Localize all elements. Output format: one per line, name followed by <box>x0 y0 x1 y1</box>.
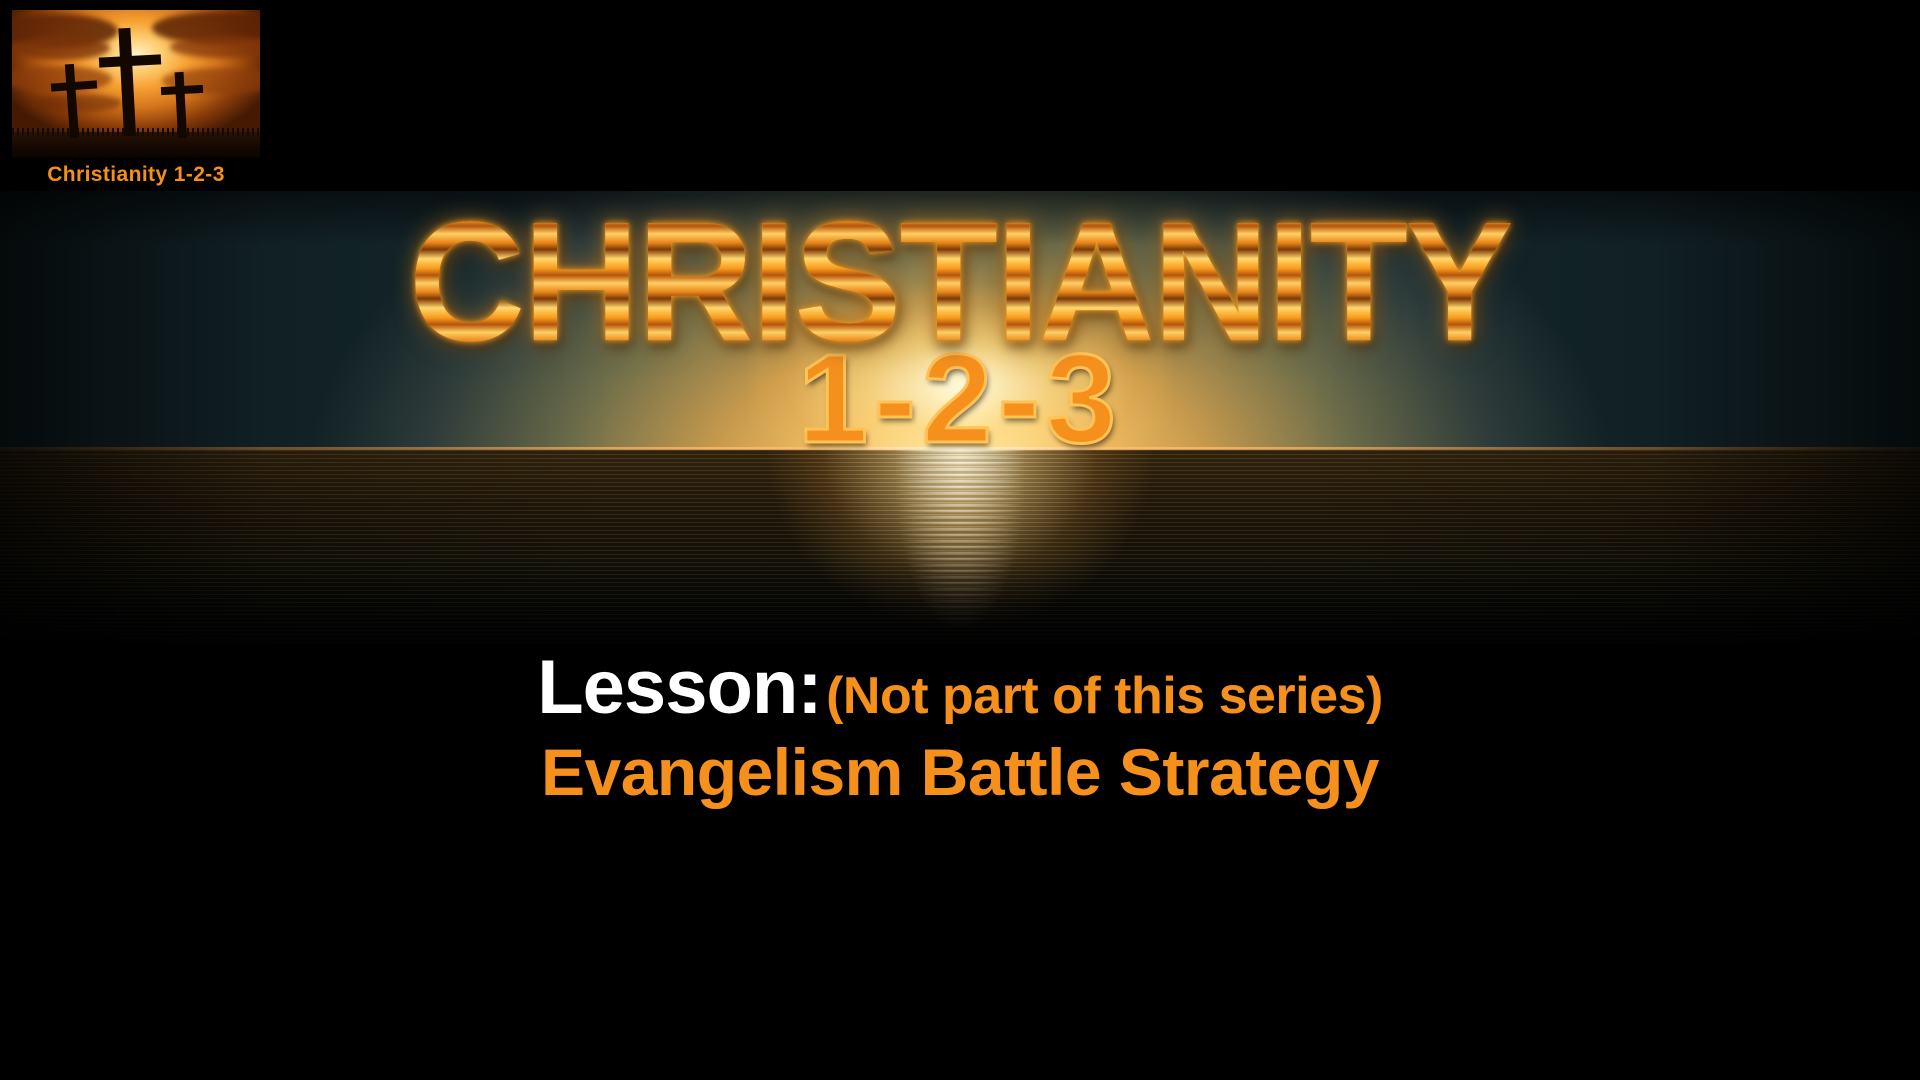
banner-title: CHRISTIANITY <box>409 209 1511 355</box>
lesson-label: Lesson: <box>537 645 821 730</box>
logo-block[interactable]: Christianity 1-2-3 <box>12 10 260 187</box>
lesson-heading-line: Lesson: (Not part of this series) <box>0 648 1920 728</box>
logo-caption: Christianity 1-2-3 <box>12 163 260 187</box>
horizon-ground <box>12 132 260 158</box>
three-crosses-sunset-thumbnail[interactable] <box>12 10 260 158</box>
slide-canvas: Christianity 1-2-3 CHRISTIANITY 1-2-3 Le… <box>0 0 1920 1080</box>
cloud-shape <box>14 36 110 60</box>
lesson-topic: Evangelism Battle Strategy <box>0 736 1920 809</box>
banner-wordmark: CHRISTIANITY 1-2-3 <box>0 191 1920 643</box>
lesson-area: Lesson: (Not part of this series) Evange… <box>0 648 1920 808</box>
ocean-sunset-banner: CHRISTIANITY 1-2-3 <box>0 191 1920 643</box>
lesson-note: (Not part of this series) <box>826 667 1383 725</box>
